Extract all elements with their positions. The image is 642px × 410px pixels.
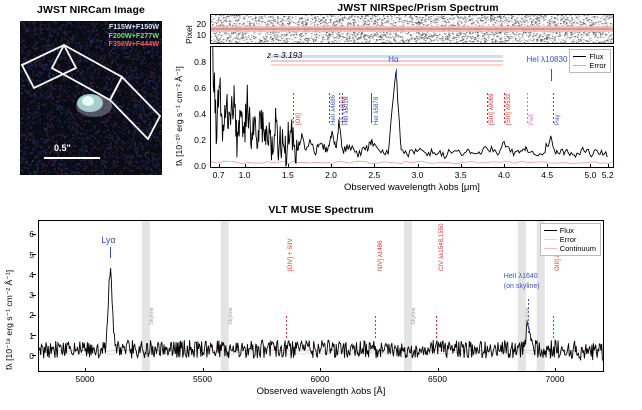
nirspec-tick [504,164,505,168]
nirspec-title: JWST NIRSpec/Prism Spectrum [208,2,628,14]
nirspec-ytick-0.6: 0.6 [180,83,206,93]
line-marker [286,316,287,338]
line-marker [553,316,554,338]
nirspec-xtick-4.0: 4.0 [498,170,510,180]
scale-bar-label: 0.5" [54,143,71,153]
skyline-label: Skyline [411,307,417,325]
legend-item-error: Error [573,61,606,70]
nirspec-xtick-2.5: 2.5 [368,170,380,180]
nirspec-xtick-0.7: 0.7 [213,170,225,180]
nirspec-xtick-5.2: 5.2 [602,170,614,180]
nirspec-tick [331,164,332,168]
legend-label-continuum: Continuum [560,244,596,253]
nirspec-panel: JWST NIRSpec/Prism Spectrum Pixel 20 10 … [178,2,640,198]
nirspec-xtick-2.0: 2.0 [325,170,337,180]
nirspec-tick [608,164,609,168]
muse-legend: Flux Error Continuum [540,223,601,256]
line-marker [436,316,437,338]
legend-item-flux: Flux [573,52,606,61]
line-marker [487,93,488,123]
line-marker [371,93,372,123]
nirspec-xlabel: Observed wavelength λobs [μm] [210,182,614,193]
nirspec-tick [374,164,375,168]
nirspec-ytick-0.4: 0.4 [180,109,206,119]
skyline-label: Skyline [228,307,234,325]
muse-xtick-7000: 7000 [546,374,565,384]
slit-overlay [20,21,162,175]
nircam-panel: JWST NIRCam Image F115W+F150W F200W+F277… [6,4,176,186]
legend-item-error: Error [544,235,596,244]
line-label: HeI λ10830 [526,55,567,64]
muse-tick [32,295,36,296]
muse-tick [203,368,204,372]
line-label: HeII λ4686 [331,95,337,125]
muse-tick [32,355,36,356]
redshift-annotation: z = 3.193 [267,50,302,60]
muse-flux-trace [39,221,603,371]
line-marker [375,316,376,338]
nirspec-ytick-0.0: 0.0 [180,161,206,171]
muse-xtick-6500: 6500 [428,374,447,384]
nirspec-xtick-3.0: 3.0 [412,170,424,180]
legend-label-flux: Flux [589,52,603,61]
muse-tick [555,368,556,372]
nirspec-1d-plot: z = 3.193 [OII]HeII λ4686Hβ + [OIII]HeI … [210,46,614,168]
legend-item-flux: Flux [544,226,596,235]
line-marker [396,69,397,81]
line-marker [339,93,340,123]
line-marker [551,69,552,81]
line-marker [110,247,111,258]
legend-swatch-flux [544,230,557,231]
muse-tick [320,368,321,372]
line-label: HeI λ5016 [344,97,350,125]
nircam-image: F115W+F150W F200W+F277W F356W+F444W 0.5" [20,21,162,175]
line-label: Lyα [101,235,115,245]
nirspec-2d-image [211,15,613,43]
muse-xlabel: Observed wavelength λobs [Å] [38,386,604,397]
line-marker [504,93,505,123]
nirspec-2d-ytick-10: 10 [186,30,206,40]
scale-bar [44,157,100,159]
legend-item-continuum: Continuum [544,244,596,253]
nirspec-tick [418,164,419,168]
legend-swatch-error [573,65,586,66]
legend-swatch-flux [573,56,586,57]
muse-title: VLT MUSE Spectrum [38,204,604,216]
line-marker [342,93,343,123]
legend-label-error: Error [589,61,606,70]
line-label: [OII] [296,113,302,125]
muse-panel: VLT MUSE Spectrum Lyα[OIV] + SiIVNIV] λ1… [2,200,640,408]
nirspec-2d-ytick-20: 20 [186,19,206,29]
nirspec-tick [590,164,591,168]
legend-swatch-error [544,239,557,240]
line-label: Paδ [529,114,535,125]
muse-tick [32,315,36,316]
muse-ylabel: fλ [10⁻¹⁸ erg s⁻¹ cm⁻² Å⁻¹] [4,270,15,370]
nirspec-ytick-0.8: 0.8 [180,57,206,67]
muse-xtick-5000: 5000 [76,374,95,384]
muse-tick [32,254,36,255]
line-marker [329,93,330,123]
legend-label-error: Error [560,235,577,244]
nirspec-2d-spectrum [210,14,614,44]
nirspec-xtick-4.5: 4.5 [541,170,553,180]
nircam-title: JWST NIRCam Image [6,4,176,16]
nirspec-xtick-5.0: 5.0 [584,170,596,180]
muse-tick [32,274,36,275]
muse-tick [32,335,36,336]
muse-tick [32,234,36,235]
line-marker [293,93,294,123]
line-label: Hα [388,55,398,64]
muse-xtick-6000: 6000 [311,374,330,384]
muse-tick [438,368,439,372]
muse-plot: Lyα[OIV] + SiIVNIV] λ1486CIV λλ1548,1550… [38,220,604,372]
nirspec-xtick-1.5: 1.5 [282,170,294,180]
nirspec-tick [288,164,289,168]
muse-xtick-5500: 5500 [193,374,212,384]
line-label: [SIII] λ9532 [506,93,512,125]
line-marker [527,93,528,123]
legend-label-flux: Flux [560,226,574,235]
nirspec-tick [547,164,548,168]
legend-swatch-continuum [544,248,557,249]
line-label: [OIV] + SiIV [288,238,294,271]
nirspec-tick [461,164,462,168]
skyline-label: Skyline [149,307,155,325]
skyline-label: Skyline [525,307,531,325]
nirspec-ytick-0.2: 0.2 [180,135,206,145]
line-marker [553,93,554,123]
nirspec-xtick-1.0: 1.0 [239,170,251,180]
nirspec-legend: Flux Error [569,49,611,73]
nirspec-tick [219,164,220,168]
nirspec-tick [245,164,246,168]
line-label: [SIII] λ9069 [489,93,495,125]
line-label: HeI λ5878 [374,97,380,125]
nirspec-xtick-3.5: 3.5 [455,170,467,180]
line-label: CIV λλ1548,1550 [439,223,445,271]
line-label: NIV] λ1486 [378,240,384,271]
line-label: HeII λ1640 [504,273,538,280]
line-label: Paγ [555,114,561,125]
line-sublabel: (on skyline) [504,283,540,290]
muse-tick [85,368,86,372]
